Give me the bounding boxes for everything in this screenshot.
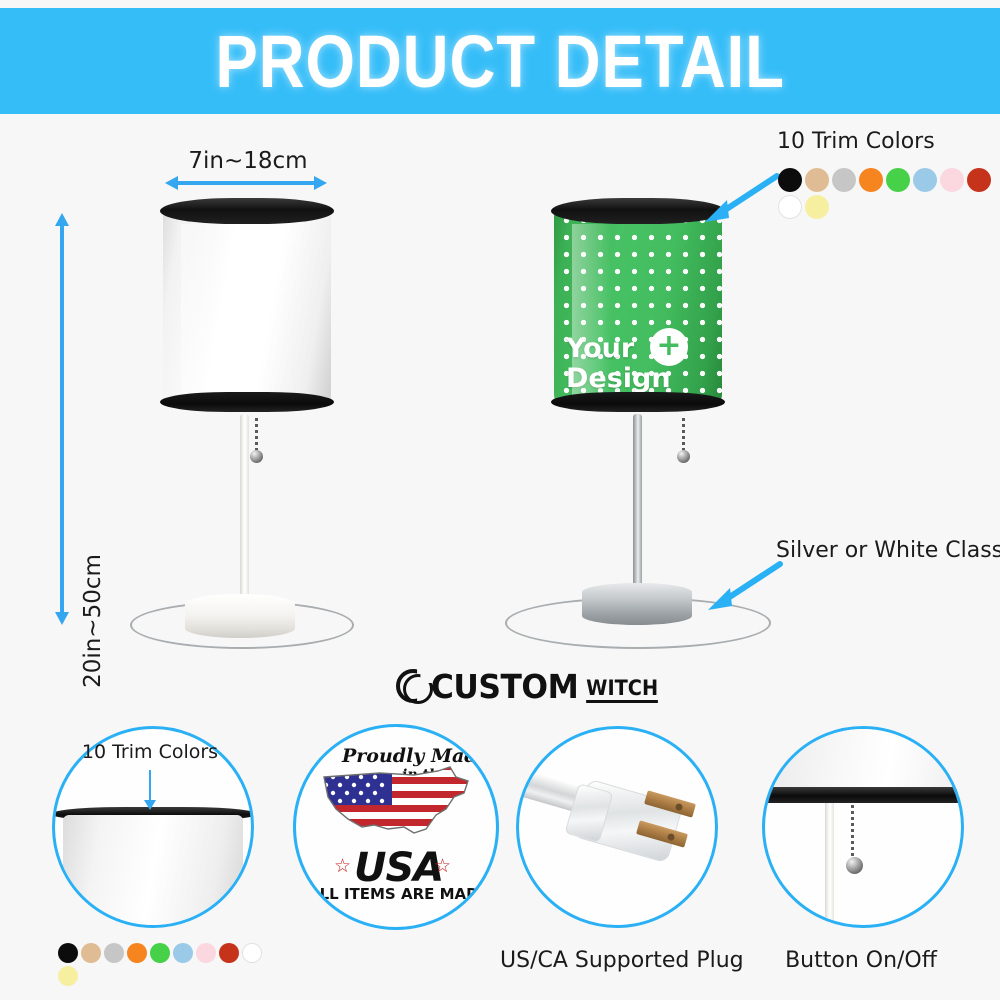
shade-highlight bbox=[181, 224, 221, 396]
trim-swatch-white[interactable] bbox=[242, 943, 262, 963]
design-line-1: Your bbox=[566, 333, 634, 364]
feature-circle-switch bbox=[762, 726, 964, 928]
mini-shade-body bbox=[762, 729, 964, 791]
width-dimension-label: 7in~18cm bbox=[168, 148, 328, 174]
pull-chain-ball[interactable] bbox=[677, 450, 690, 463]
trim-swatch-gray[interactable] bbox=[832, 168, 856, 192]
logo-primary-text: CUSTOM bbox=[431, 670, 578, 703]
trim-swatch-pink[interactable] bbox=[196, 943, 216, 963]
lamp-base bbox=[185, 594, 295, 638]
feature-caption-plug: US/CA Supported Plug bbox=[500, 948, 730, 973]
shade-trim-bottom bbox=[551, 392, 725, 412]
header-banner: PRODUCT DETAIL bbox=[0, 8, 1000, 114]
trim-swatch-tan[interactable] bbox=[805, 168, 829, 192]
lamp-base bbox=[582, 583, 692, 625]
page-title: PRODUCT DETAIL bbox=[215, 19, 784, 104]
arrow-icon bbox=[700, 560, 786, 612]
arrow-shaft bbox=[175, 181, 317, 185]
design-line-2: Design bbox=[566, 363, 671, 394]
trim-swatch-red[interactable] bbox=[967, 168, 991, 192]
shade-trim-bottom bbox=[160, 392, 334, 412]
lamp-shade-custom: Your Design + bbox=[554, 198, 722, 410]
trim-swatch-light-blue[interactable] bbox=[913, 168, 937, 192]
trim-swatch-green[interactable] bbox=[150, 943, 170, 963]
usa-line-4: ALL ITEMS ARE MADE TO ORDER! bbox=[308, 885, 499, 903]
usa-star-right-icon: ☆ bbox=[434, 855, 451, 878]
feature-circle-plug bbox=[516, 726, 718, 928]
shade-surface bbox=[163, 206, 331, 404]
lamp-pole bbox=[633, 414, 642, 586]
brand-logo: CUSTOM WITCH bbox=[396, 663, 661, 703]
trim-swatch-row-top bbox=[778, 168, 1000, 222]
logo-secondary-text: WITCH bbox=[586, 677, 658, 703]
height-dimension-arrow: 20in~50cm bbox=[55, 213, 69, 625]
pin-hole bbox=[667, 833, 676, 842]
pull-chain[interactable] bbox=[851, 805, 854, 861]
trim-swatch-pink[interactable] bbox=[940, 168, 964, 192]
pin-hole bbox=[675, 803, 684, 812]
feature-circle-made-in-usa: Proudly Made in the bbox=[293, 724, 499, 930]
trim-swatch-orange[interactable] bbox=[127, 943, 147, 963]
trim-swatch-yellow[interactable] bbox=[805, 195, 829, 219]
trim-swatch-row-bottom bbox=[58, 943, 273, 989]
pull-chain-ball[interactable] bbox=[846, 857, 863, 874]
mini-shade-body bbox=[63, 815, 243, 925]
trim-colors-callout-label: 10 Trim Colors bbox=[777, 129, 935, 154]
trim-swatch-red[interactable] bbox=[219, 943, 239, 963]
pull-chain[interactable] bbox=[255, 418, 258, 452]
logo-c-mark-icon bbox=[396, 669, 430, 703]
trim-pointer-arrow bbox=[144, 770, 156, 802]
lamp-pole bbox=[240, 414, 249, 604]
trim-swatch-orange[interactable] bbox=[859, 168, 883, 192]
trim-colors-callout-arrow bbox=[697, 172, 783, 224]
your-design-text: Your Design bbox=[566, 334, 712, 394]
arrow-icon bbox=[697, 172, 783, 224]
arrow-head-down bbox=[144, 800, 156, 810]
trim-swatch-gray[interactable] bbox=[104, 943, 124, 963]
arrow-shaft bbox=[60, 223, 64, 615]
pull-chain-ball[interactable] bbox=[250, 450, 263, 463]
add-design-plus-icon[interactable]: + bbox=[650, 328, 688, 366]
trim-swatch-light-blue[interactable] bbox=[173, 943, 193, 963]
usa-map-flag-icon bbox=[318, 763, 478, 843]
pull-chain[interactable] bbox=[682, 418, 685, 452]
trim-swatch-yellow[interactable] bbox=[58, 966, 78, 986]
trim-swatch-white[interactable] bbox=[778, 195, 802, 219]
arrow-head-right bbox=[314, 176, 327, 190]
base-finish-callout-label: Silver or White Classy bbox=[776, 538, 1000, 563]
trim-swatch-black[interactable] bbox=[58, 943, 78, 963]
usa-star-left-icon: ☆ bbox=[334, 855, 351, 878]
arrow-shaft bbox=[149, 770, 151, 802]
base-finish-callout-arrow bbox=[700, 560, 786, 612]
shade-surface: Your Design + bbox=[554, 206, 722, 404]
arrow-head-bottom bbox=[55, 612, 69, 625]
mini-lamp-pole bbox=[825, 803, 834, 925]
shade-trim-top bbox=[160, 198, 334, 224]
trim-swatch-black[interactable] bbox=[778, 168, 802, 192]
width-dimension-arrow bbox=[165, 176, 327, 190]
lamp-shade-blank bbox=[163, 198, 331, 410]
feature-caption-switch: Button On/Off bbox=[768, 948, 954, 973]
trim-swatch-tan[interactable] bbox=[81, 943, 101, 963]
product-detail-infographic: PRODUCT DETAIL 7in~18cm 20in~50cm bbox=[0, 0, 1000, 1000]
height-dimension-label: 20in~50cm bbox=[80, 531, 106, 711]
mini-shade-trim bbox=[762, 787, 964, 803]
trim-swatch-green[interactable] bbox=[886, 168, 910, 192]
feature-caption-trim-colors: 10 Trim Colors bbox=[62, 741, 238, 763]
